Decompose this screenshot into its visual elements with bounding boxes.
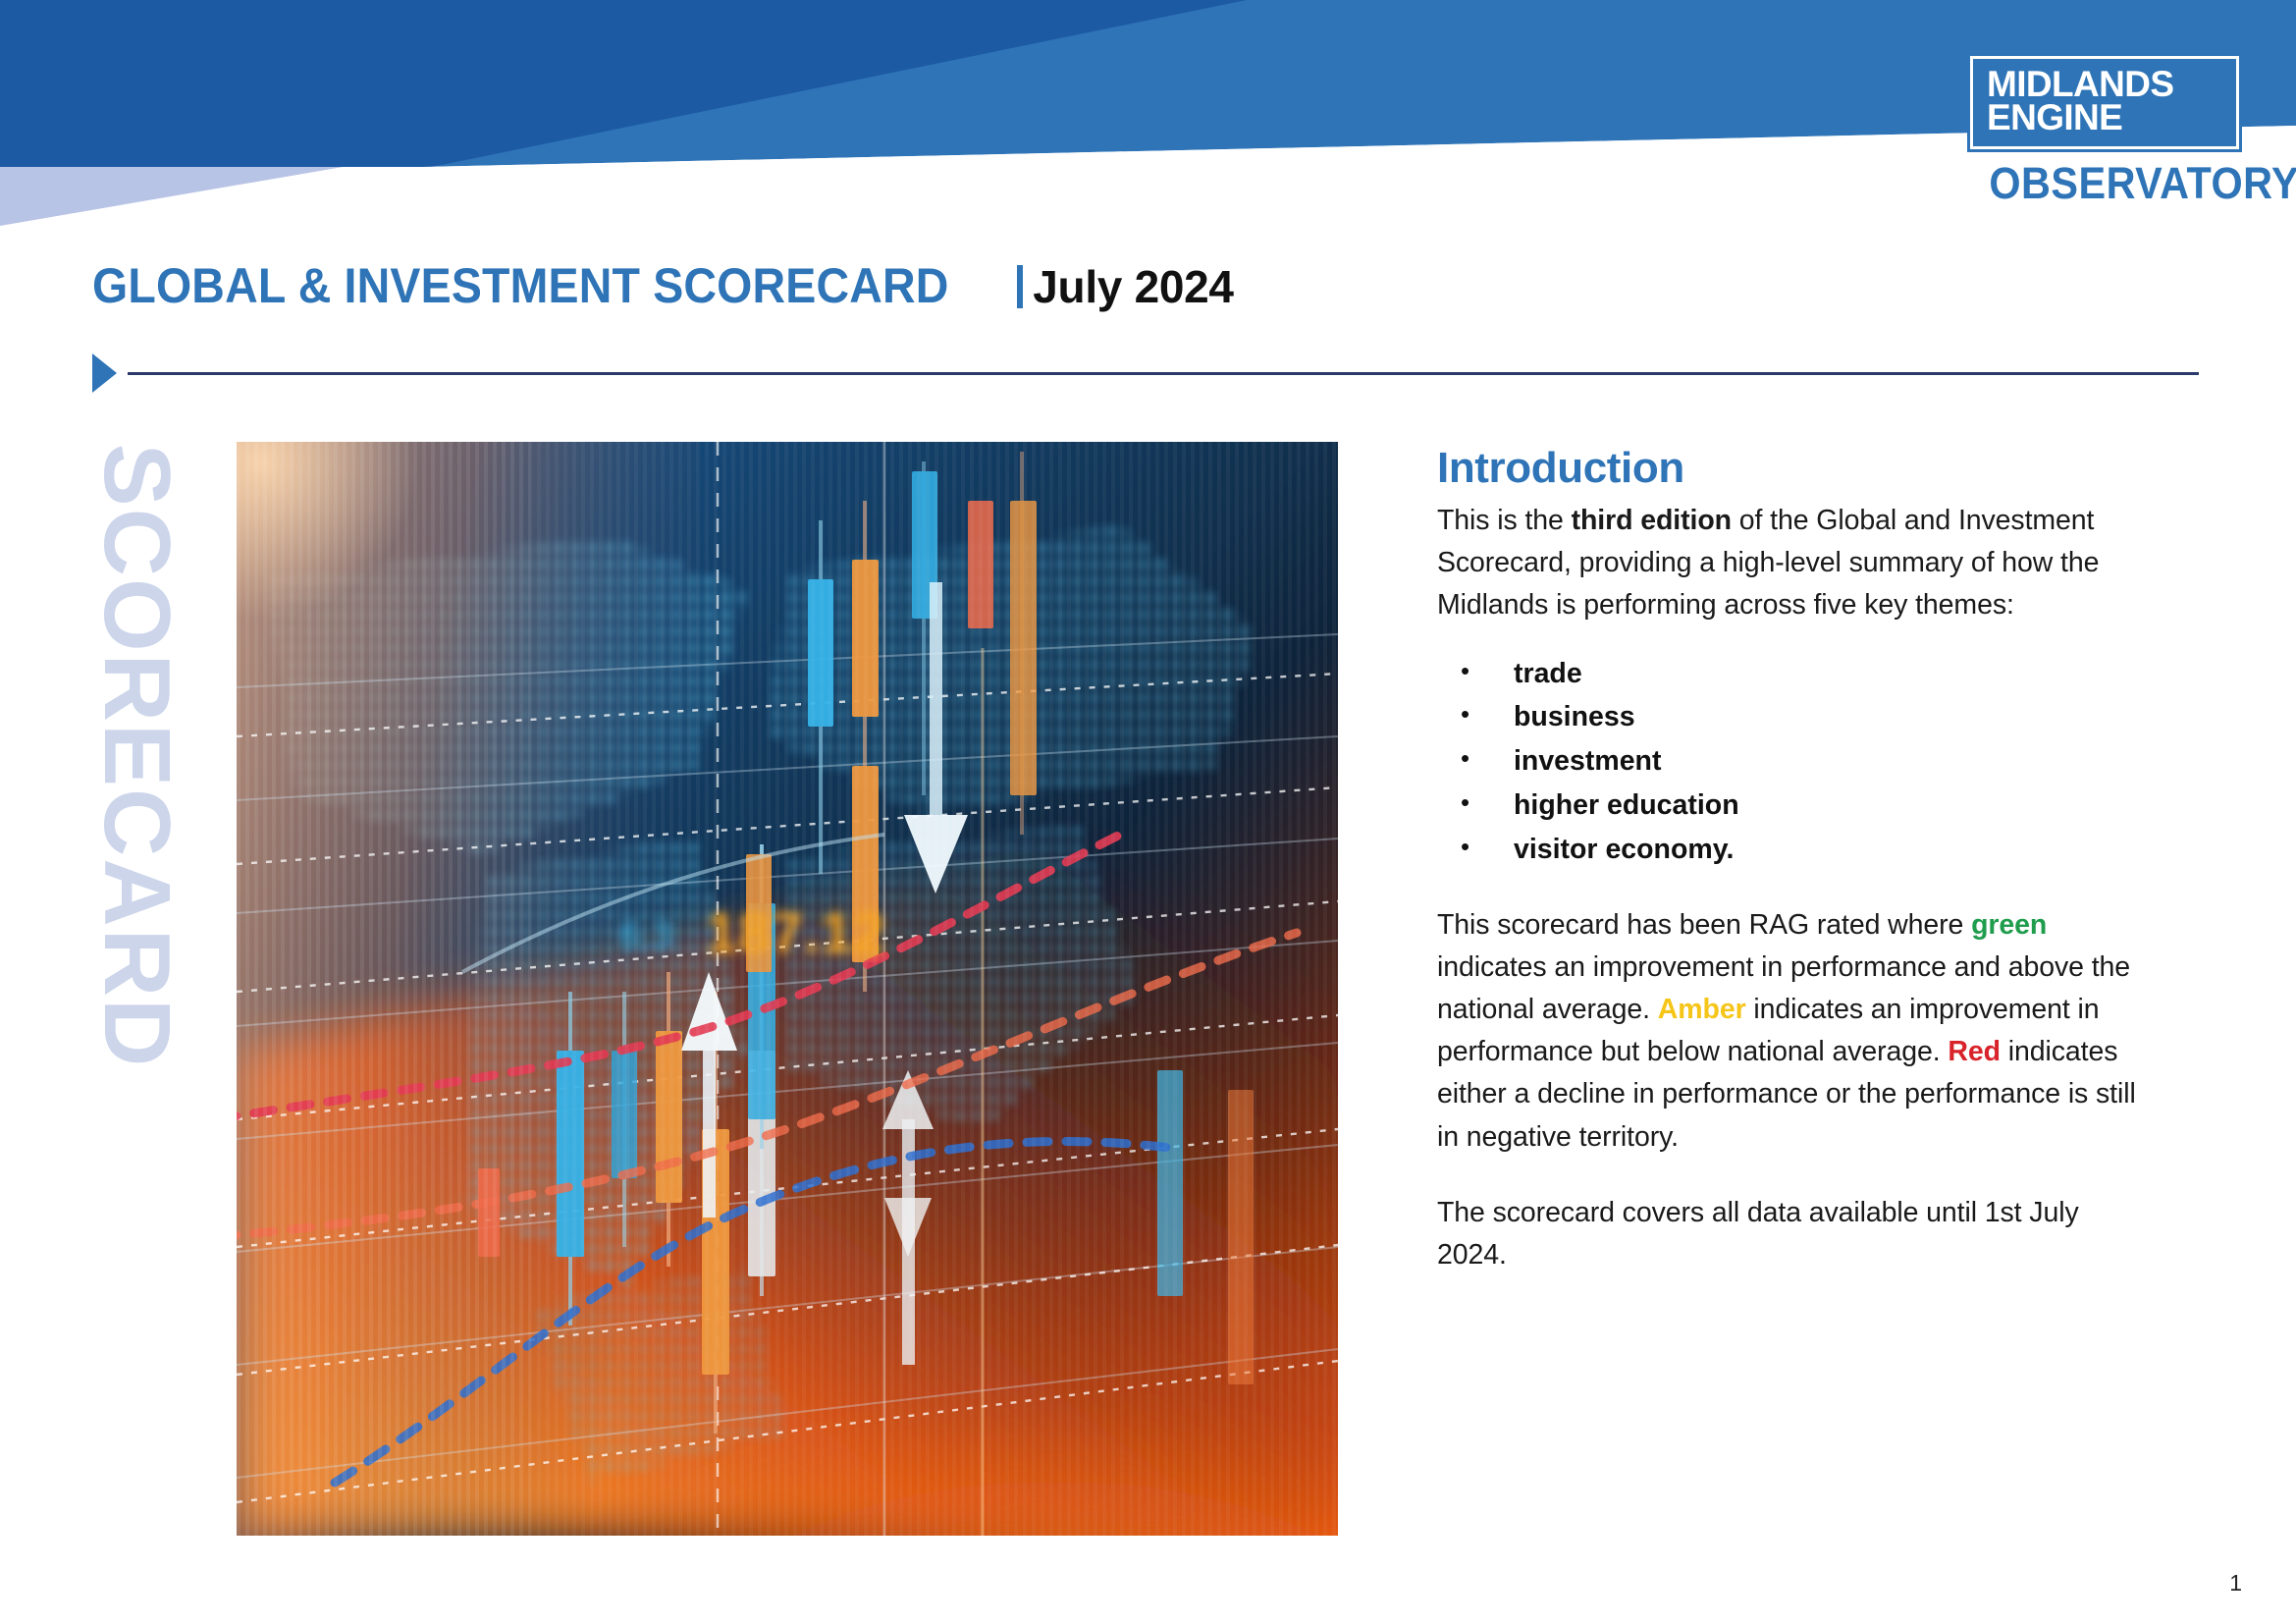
rag-green-label: green	[1971, 909, 2047, 941]
page-number: 1	[2229, 1570, 2242, 1597]
scorecard-watermark: SCORECARD	[92, 442, 181, 1070]
rag-red-label: Red	[1948, 1036, 2001, 1067]
theme-label: investment	[1514, 745, 1661, 777]
brand-logo: MIDLANDS ENGINE OBSERVATORY	[1967, 53, 2242, 205]
spacer	[1437, 871, 2154, 904]
intro-p1-emphasis: third edition	[1572, 505, 1732, 536]
spacer	[1437, 626, 2154, 652]
logo-observatory-text: OBSERVATORY	[1989, 161, 2242, 205]
rag-amber-label: Amber	[1658, 994, 1746, 1025]
introduction-heading: Introduction	[1437, 444, 2154, 494]
page-title-main: GLOBAL & INVESTMENT SCORECARD	[92, 257, 949, 314]
theme-label: visitor economy.	[1514, 834, 1734, 865]
logo-line-midlands: MIDLANDS	[1987, 68, 2222, 101]
scorecard-watermark-text: SCORECARD	[89, 444, 184, 1069]
key-themes-list: trade business investment higher educati…	[1437, 652, 2154, 872]
header-shape-light	[0, 118, 628, 226]
list-item-business: business	[1437, 695, 2154, 739]
list-item-visitor-economy: visitor economy.	[1437, 828, 2154, 872]
page-title: GLOBAL & INVESTMENT SCORECARDJuly 2024	[92, 257, 1234, 314]
hero-image-artwork: 187.12 6.3	[237, 442, 1338, 1536]
introduction-section: Introduction This is the third edition o…	[1437, 444, 2154, 1276]
intro-p1-part-a: This is the	[1437, 505, 1572, 536]
midlands-engine-logo-box: MIDLANDS ENGINE	[1967, 53, 2242, 152]
header-decorative-graphic	[0, 0, 2296, 295]
page-title-date: July 2024	[1033, 260, 1233, 313]
theme-label: business	[1514, 701, 1635, 732]
list-item-trade: trade	[1437, 652, 2154, 696]
title-separator-pipe	[1017, 265, 1023, 308]
coverage-paragraph: The scorecard covers all data available …	[1437, 1192, 2154, 1276]
rag-explanation-paragraph: This scorecard has been RAG rated where …	[1437, 904, 2154, 1158]
header-divider	[92, 353, 2199, 397]
list-item-higher-education: higher education	[1437, 784, 2154, 828]
rag-text-1: This scorecard has been RAG rated where	[1437, 909, 1971, 941]
logo-line-engine: ENGINE	[1987, 101, 2222, 135]
spacer	[1437, 1159, 2154, 1192]
hero-financial-image: 187.12 6.3	[237, 442, 1338, 1536]
theme-label: trade	[1514, 658, 1582, 689]
header-shape-dark	[0, 0, 1247, 167]
midlands-engine-logo-inner: MIDLANDS ENGINE	[1973, 59, 2236, 146]
list-item-investment: investment	[1437, 739, 2154, 784]
triangle-right-icon	[92, 353, 117, 393]
theme-label: higher education	[1514, 789, 1739, 821]
introduction-paragraph-1: This is the third edition of the Global …	[1437, 500, 2154, 626]
divider-rule	[128, 372, 2199, 375]
